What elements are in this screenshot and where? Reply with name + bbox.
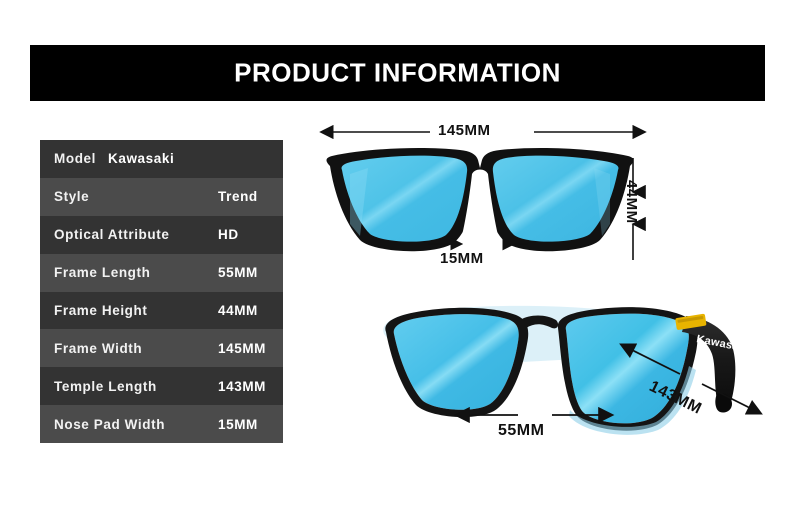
spec-value: Trend bbox=[218, 189, 258, 204]
spec-label: Frame Height bbox=[54, 303, 147, 318]
spec-value: 145MM bbox=[218, 341, 266, 356]
spec-label: Model bbox=[54, 151, 96, 166]
dimension-label-nosepad: 15MM bbox=[440, 250, 484, 267]
spec-value: 143MM bbox=[218, 379, 266, 394]
spec-value: 15MM bbox=[218, 417, 258, 432]
table-row: Frame Length 55MM bbox=[40, 254, 283, 292]
spec-value: 44MM bbox=[218, 303, 258, 318]
dimension-label-width: 145MM bbox=[438, 122, 491, 139]
spec-value: Kawasaki bbox=[108, 151, 174, 166]
table-row: Model Kawasaki bbox=[40, 140, 283, 178]
header-banner: PRODUCT INFORMATION bbox=[30, 45, 765, 101]
spec-label: Temple Length bbox=[54, 379, 157, 394]
spec-label: Optical Attribute bbox=[54, 227, 169, 242]
spec-label: Style bbox=[54, 189, 89, 204]
spec-label: Frame Width bbox=[54, 341, 142, 356]
spec-label: Nose Pad Width bbox=[54, 417, 165, 432]
dimension-label-lenswidth: 55MM bbox=[498, 422, 544, 440]
table-row: Style Trend bbox=[40, 178, 283, 216]
page-title: PRODUCT INFORMATION bbox=[30, 58, 765, 89]
specification-table: Model Kawasaki Style Trend Optical Attri… bbox=[40, 140, 283, 443]
table-row: Optical Attribute HD bbox=[40, 216, 283, 254]
spec-value: HD bbox=[218, 227, 239, 242]
table-row: Frame Height 44MM bbox=[40, 292, 283, 330]
spec-label: Frame Length bbox=[54, 265, 150, 280]
table-row: Temple Length 143MM bbox=[40, 367, 283, 405]
table-row: Frame Width 145MM bbox=[40, 329, 283, 367]
spec-value: 55MM bbox=[218, 265, 258, 280]
product-diagrams: 145MM 44MM bbox=[300, 110, 780, 460]
table-row: Nose Pad Width 15MM bbox=[40, 405, 283, 443]
dimension-label-height: 44MM bbox=[623, 180, 640, 224]
